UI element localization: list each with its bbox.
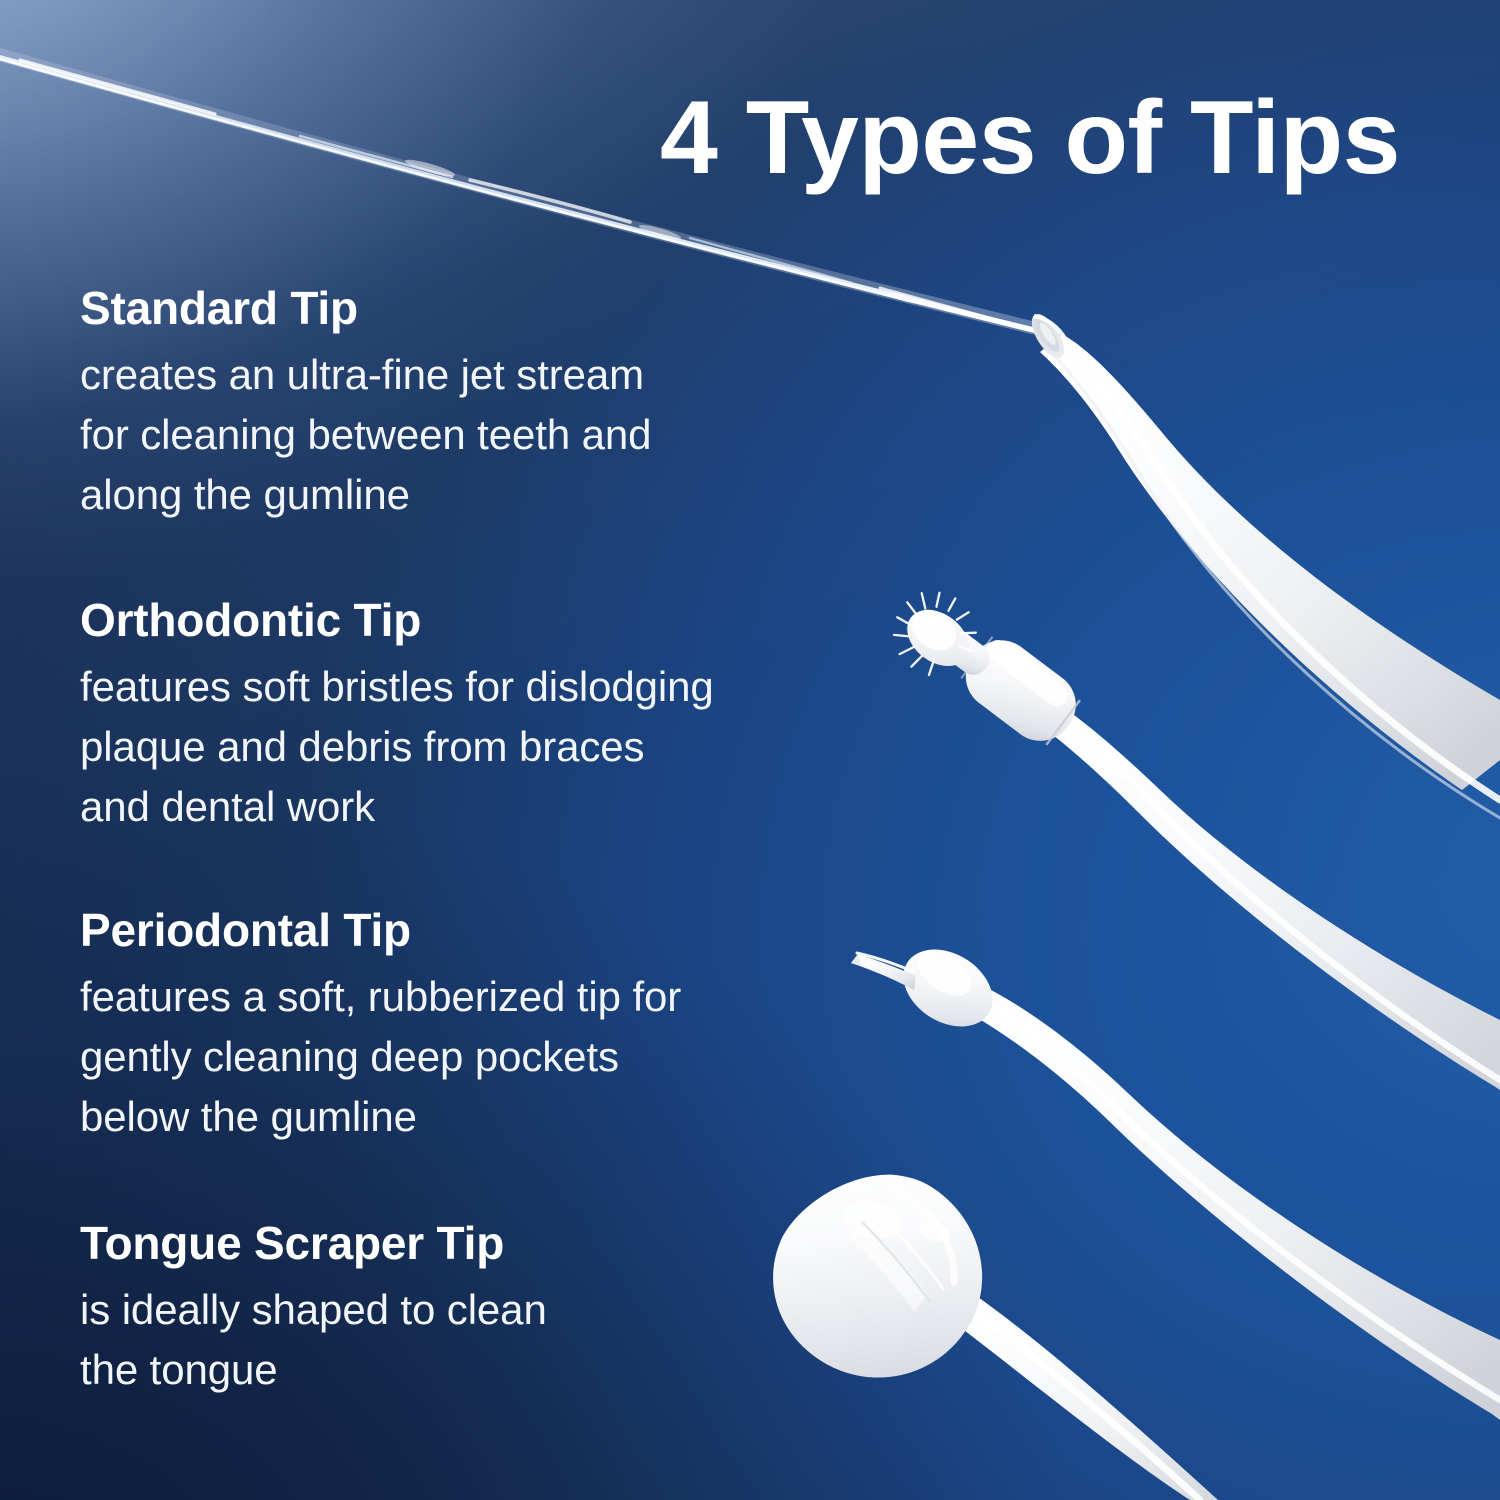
tip-description-line: along the gumline <box>80 465 840 525</box>
tip-heading-orthodontic: Orthodontic Tip <box>80 595 840 647</box>
tip-description-orthodontic: features soft bristles for dislodging pl… <box>80 657 840 837</box>
tip-block-orthodontic: Orthodontic Tip features soft bristles f… <box>80 595 840 837</box>
tip-heading-tongue-scraper: Tongue Scraper Tip <box>80 1218 840 1270</box>
tip-description-standard: creates an ultra-fine jet stream for cle… <box>80 345 840 525</box>
tip-description-line: the tongue <box>80 1340 840 1400</box>
tip-description-tongue-scraper: is ideally shaped to clean the tongue <box>80 1280 840 1400</box>
tip-description-line: plaque and debris from braces <box>80 717 840 777</box>
tip-description-line: is ideally shaped to clean <box>80 1280 840 1340</box>
page-title: 4 Types of Tips <box>660 84 1400 193</box>
tip-description-periodontal: features a soft, rubberized tip for gent… <box>80 967 840 1147</box>
tip-heading-standard: Standard Tip <box>80 283 840 335</box>
tip-block-standard: Standard Tip creates an ultra-fine jet s… <box>80 283 840 525</box>
tip-description-line: gently cleaning deep pockets <box>80 1027 840 1087</box>
tip-description-line: creates an ultra-fine jet stream <box>80 345 840 405</box>
tip-block-periodontal: Periodontal Tip features a soft, rubberi… <box>80 905 840 1147</box>
tip-description-line: and dental work <box>80 777 840 837</box>
tip-description-line: for cleaning between teeth and <box>80 405 840 465</box>
tip-description-line: features a soft, rubberized tip for <box>80 967 840 1027</box>
tip-heading-periodontal: Periodontal Tip <box>80 905 840 957</box>
tip-description-line: below the gumline <box>80 1087 840 1147</box>
infographic-canvas: 4 Types of Tips Standard Tip creates an … <box>0 0 1500 1500</box>
tip-description-line: features soft bristles for dislodging <box>80 657 840 717</box>
tip-block-tongue-scraper: Tongue Scraper Tip is ideally shaped to … <box>80 1218 840 1400</box>
